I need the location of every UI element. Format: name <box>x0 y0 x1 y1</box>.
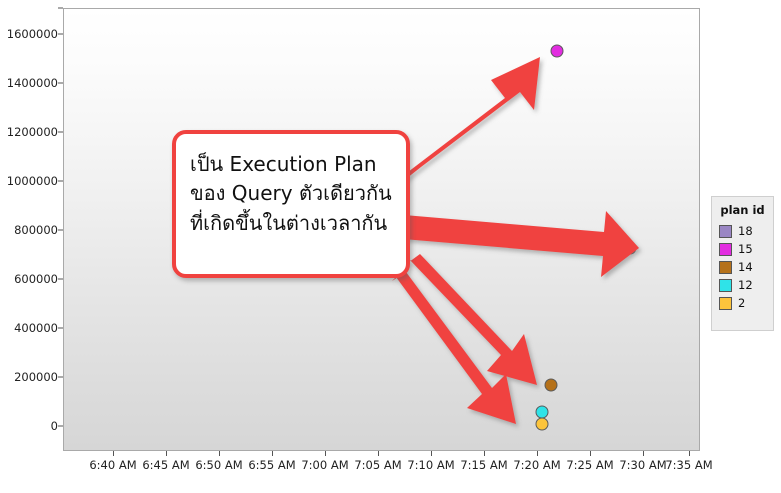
x-axis-tick-label: 6:50 AM <box>195 458 242 472</box>
x-axis-tick-label: 6:45 AM <box>142 458 189 472</box>
y-axis-tick-label: 0 <box>0 419 58 433</box>
y-tick-mark <box>58 132 63 133</box>
x-axis-tick-label: 7:00 AM <box>301 458 348 472</box>
x-axis-tick-label: 7:35 AM <box>665 458 712 472</box>
x-tick-mark <box>537 451 538 456</box>
legend-item-18[interactable]: 18 <box>719 224 766 238</box>
y-tick-mark <box>58 377 63 378</box>
legend-title: plan id <box>719 203 766 217</box>
legend-swatch-icon <box>719 243 732 256</box>
legend-item-14[interactable]: 14 <box>719 260 766 274</box>
legend-item-label: 12 <box>738 278 753 292</box>
callout-line-2: ของ Query ตัวเดียวกัน <box>190 179 392 208</box>
legend-item-label: 15 <box>738 242 753 256</box>
y-axis-tick-label: 1600000 <box>0 27 58 41</box>
callout-line-1: เป็น Execution Plan <box>190 150 392 179</box>
legend-item-label: 18 <box>738 224 753 238</box>
x-tick-mark <box>378 451 379 456</box>
y-axis-tick-label: 200000 <box>0 370 58 384</box>
y-axis-tick-label: 1200000 <box>0 125 58 139</box>
x-tick-mark <box>484 451 485 456</box>
x-axis-tick-label: 7:10 AM <box>407 458 454 472</box>
x-tick-mark <box>643 451 644 456</box>
x-tick-mark <box>113 451 114 456</box>
x-tick-mark <box>590 451 591 456</box>
y-tick-mark <box>58 426 63 427</box>
legend-item-label: 14 <box>738 260 753 274</box>
x-axis-tick-label: 7:15 AM <box>460 458 507 472</box>
legend-item-2[interactable]: 2 <box>719 296 766 310</box>
x-tick-mark <box>219 451 220 456</box>
x-axis-tick-label: 7:20 AM <box>513 458 560 472</box>
data-point-plan-18[interactable] <box>624 242 637 255</box>
y-tick-mark <box>58 181 63 182</box>
legend-item-12[interactable]: 12 <box>719 278 766 292</box>
y-tick-mark <box>58 328 63 329</box>
y-tick-mark <box>58 8 63 9</box>
data-point-plan-2[interactable] <box>536 418 549 431</box>
legend-item-label: 2 <box>738 296 745 310</box>
data-point-plan-15[interactable] <box>551 45 564 58</box>
y-axis-tick-label: 1000000 <box>0 174 58 188</box>
legend-swatch-icon <box>719 297 732 310</box>
annotation-callout: เป็น Execution Plan ของ Query ตัวเดียวกั… <box>172 130 410 278</box>
x-tick-mark <box>325 451 326 456</box>
x-tick-mark <box>689 451 690 456</box>
x-axis-tick-label: 6:40 AM <box>89 458 136 472</box>
legend-swatch-icon <box>719 261 732 274</box>
x-tick-mark <box>166 451 167 456</box>
legend-swatch-icon <box>719 279 732 292</box>
x-axis-tick-label: 7:05 AM <box>354 458 401 472</box>
data-point-plan-14[interactable] <box>545 379 558 392</box>
y-tick-mark <box>58 83 63 84</box>
y-tick-mark <box>58 279 63 280</box>
legend-swatch-icon <box>719 225 732 238</box>
x-axis-tick-label: 7:25 AM <box>566 458 613 472</box>
x-tick-mark <box>272 451 273 456</box>
y-axis-tick-label: 600000 <box>0 272 58 286</box>
callout-line-3: ที่เกิดขึ้นในต่างเวลากัน <box>190 209 392 238</box>
x-tick-mark <box>431 451 432 456</box>
legend: plan id 18 15 14 12 2 <box>711 196 774 331</box>
x-axis-tick-label: 6:55 AM <box>248 458 295 472</box>
legend-item-15[interactable]: 15 <box>719 242 766 256</box>
x-axis-tick-label: 7:30 AM <box>619 458 666 472</box>
y-axis-tick-label: 800000 <box>0 223 58 237</box>
y-axis-tick-label: 400000 <box>0 321 58 335</box>
y-tick-mark <box>58 34 63 35</box>
y-axis-tick-label: 1400000 <box>0 76 58 90</box>
y-tick-mark <box>58 230 63 231</box>
scatter-chart: 1600000 1400000 1200000 1000000 800000 6… <box>0 0 781 493</box>
